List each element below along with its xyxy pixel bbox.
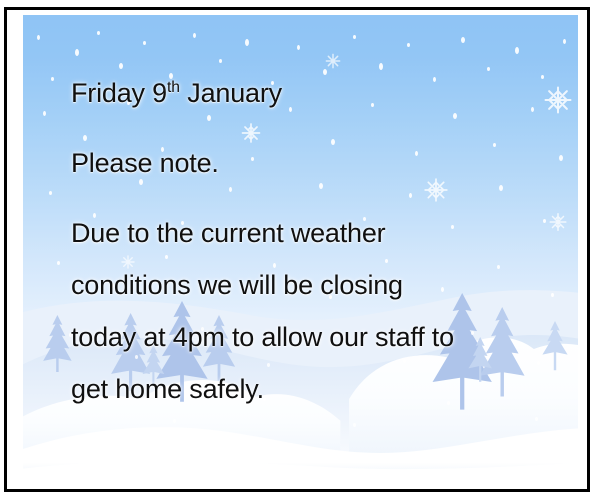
notice-body-line: Due to the current weather [71, 207, 541, 259]
notice-body-line: get home safely. [71, 363, 541, 415]
notice-body-line: conditions we will be closing [71, 259, 541, 311]
notice-body: Due to the current weather conditions we… [71, 207, 541, 415]
notice-date-suffix: January [180, 78, 282, 108]
winter-scene-image: Friday 9th January Please note. Due to t… [23, 15, 578, 486]
notice-attention-line: Please note. [71, 137, 541, 189]
notice-date-prefix: Friday 9 [71, 78, 167, 108]
notice-frame: Friday 9th January Please note. Due to t… [4, 7, 590, 492]
notice-body-line: today at 4pm to allow our staff to [71, 311, 541, 363]
notice-text-block: Friday 9th January Please note. Due to t… [71, 67, 541, 415]
notice-date-line: Friday 9th January [71, 67, 541, 119]
notice-date-ordinal: th [167, 79, 180, 96]
